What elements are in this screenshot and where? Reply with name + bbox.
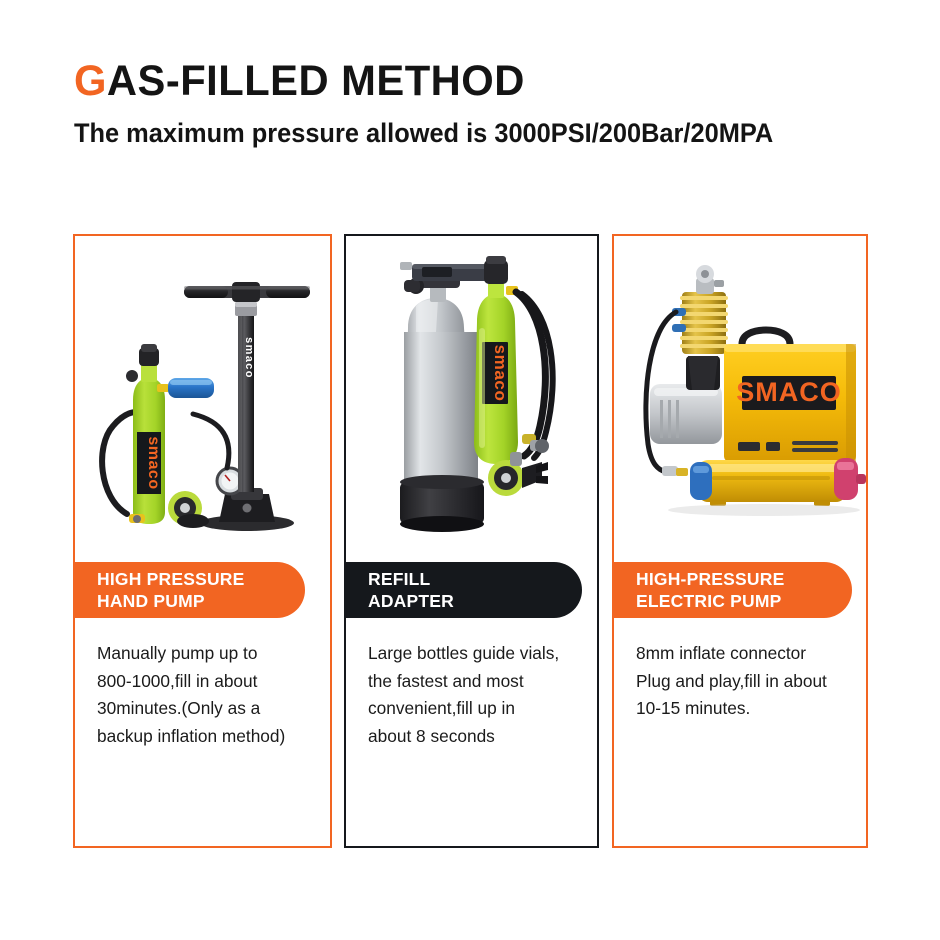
card-banner-refill-adapter: REFILL ADAPTER: [344, 562, 582, 618]
description-line: Manually pump up to: [97, 640, 318, 668]
title-rest: AS-FILLED METHOD: [107, 57, 525, 105]
banner-line-1: REFILL: [368, 568, 548, 590]
card-description-hand-pump: Manually pump up to 800-1000,fill in abo…: [97, 640, 318, 750]
banner-line-2: ADAPTER: [368, 590, 548, 612]
card-banner-electric-pump: HIGH-PRESSURE ELECTRIC PUMP: [612, 562, 852, 618]
product-photo-hand-pump: smaco: [75, 236, 330, 554]
description-line: the fastest and most: [368, 668, 585, 696]
title-accent-letter: G: [74, 57, 107, 105]
product-photo-electric-pump: SMACO: [614, 236, 866, 554]
card-banner-hand-pump: HIGH PRESSURE HAND PUMP: [73, 562, 305, 618]
svg-text:smaco: smaco: [145, 436, 162, 489]
method-card-row: smaco: [0, 234, 940, 850]
description-line: 10-15 minutes.: [636, 695, 854, 723]
description-line: convenient,fill up in: [368, 695, 585, 723]
card-refill-adapter[interactable]: smaco: [344, 234, 599, 848]
product-photo-refill-adapter: smaco: [346, 236, 597, 554]
card-description-refill-adapter: Large bottles guide vials, the fastest a…: [368, 640, 585, 750]
description-line: 800-1000,fill in about: [97, 668, 318, 696]
description-line: 30minutes.(Only as a: [97, 695, 318, 723]
description-line: 8mm inflate connector: [636, 640, 854, 668]
card-high-pressure-electric-pump[interactable]: SMACO: [612, 234, 868, 848]
card-high-pressure-hand-pump[interactable]: smaco: [73, 234, 332, 848]
page-title: GAS-FILLED METHOD: [74, 60, 869, 103]
banner-line-2: HAND PUMP: [97, 590, 271, 612]
banner-line-2: ELECTRIC PUMP: [636, 590, 818, 612]
card-description-electric-pump: 8mm inflate connector Plug and play,fill…: [636, 640, 854, 723]
svg-text:smaco: smaco: [491, 345, 510, 402]
description-line: Large bottles guide vials,: [368, 640, 585, 668]
page-subtitle: The maximum pressure allowed is 3000PSI/…: [74, 119, 845, 149]
description-line: Plug and play,fill in about: [636, 668, 854, 696]
banner-line-1: HIGH-PRESSURE: [636, 568, 818, 590]
svg-text:SMACO: SMACO: [736, 377, 842, 407]
infographic-page: GAS-FILLED METHOD The maximum pressure a…: [0, 0, 940, 940]
svg-text:smaco: smaco: [243, 337, 255, 379]
banner-line-1: HIGH PRESSURE: [97, 568, 271, 590]
description-line: backup inflation method): [97, 723, 318, 751]
description-line: about 8 seconds: [368, 723, 585, 751]
header: GAS-FILLED METHOD The maximum pressure a…: [74, 60, 894, 149]
